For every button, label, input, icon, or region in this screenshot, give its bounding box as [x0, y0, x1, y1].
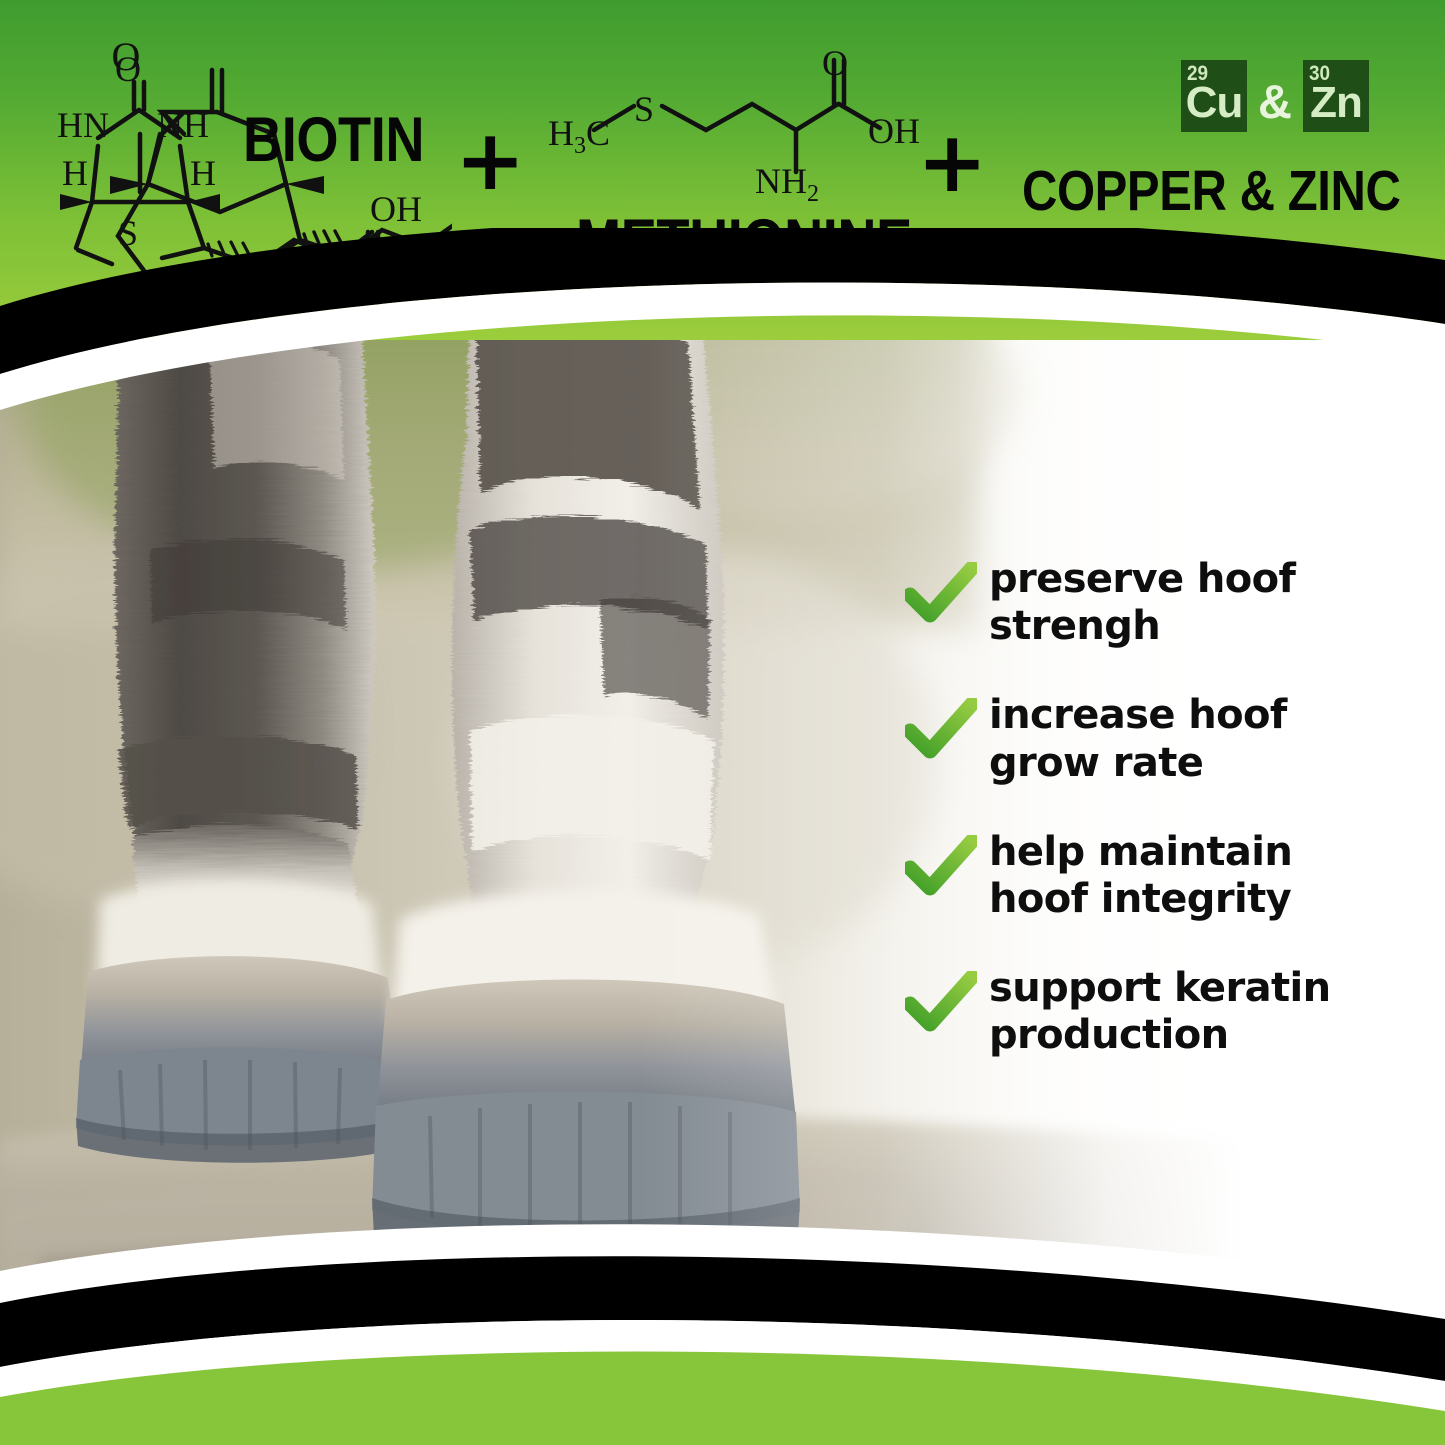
benefit-item-2: increase hoof grow rate — [905, 692, 1425, 786]
benefit-label: support keratin production — [989, 965, 1399, 1059]
plus-icon-1: + — [455, 118, 525, 202]
green-check-icon — [905, 562, 977, 624]
infographic-canvas: O HN NH H H S OH O O — [0, 0, 1445, 1445]
benefit-label: preserve hoof strengh — [989, 556, 1399, 650]
benefit-item-1: preserve hoof strengh — [905, 556, 1425, 650]
green-check-icon — [905, 971, 977, 1033]
plus-icon-2: + — [917, 120, 987, 204]
ingredient-label-copper-zinc: COPPER & ZINC — [1022, 158, 1400, 224]
benefit-item-4: support keratin production — [905, 965, 1425, 1059]
benefit-label: increase hoof grow rate — [989, 692, 1399, 786]
element-number-cu: 29 — [1187, 62, 1208, 86]
top-wave-divider — [0, 228, 1445, 468]
ampersand-label: & — [1253, 74, 1297, 129]
benefit-item-3: help maintain hoof integrity — [905, 829, 1425, 923]
benefit-label: help maintain hoof integrity — [989, 829, 1399, 923]
green-check-icon — [905, 835, 977, 897]
bottom-wave-divider — [0, 1175, 1445, 1445]
green-check-icon — [905, 698, 977, 760]
ingredient-label-biotin: BIOTIN — [243, 104, 424, 176]
element-tile-zn: 30 Zn — [1303, 60, 1369, 132]
element-tile-cu: 29 Cu — [1181, 60, 1247, 132]
element-number-zn: 30 — [1309, 62, 1330, 86]
benefits-list: preserve hoof strengh increase hoof grow… — [905, 556, 1425, 1102]
periodic-element-tiles: 29 Cu & 30 Zn — [1181, 60, 1369, 132]
